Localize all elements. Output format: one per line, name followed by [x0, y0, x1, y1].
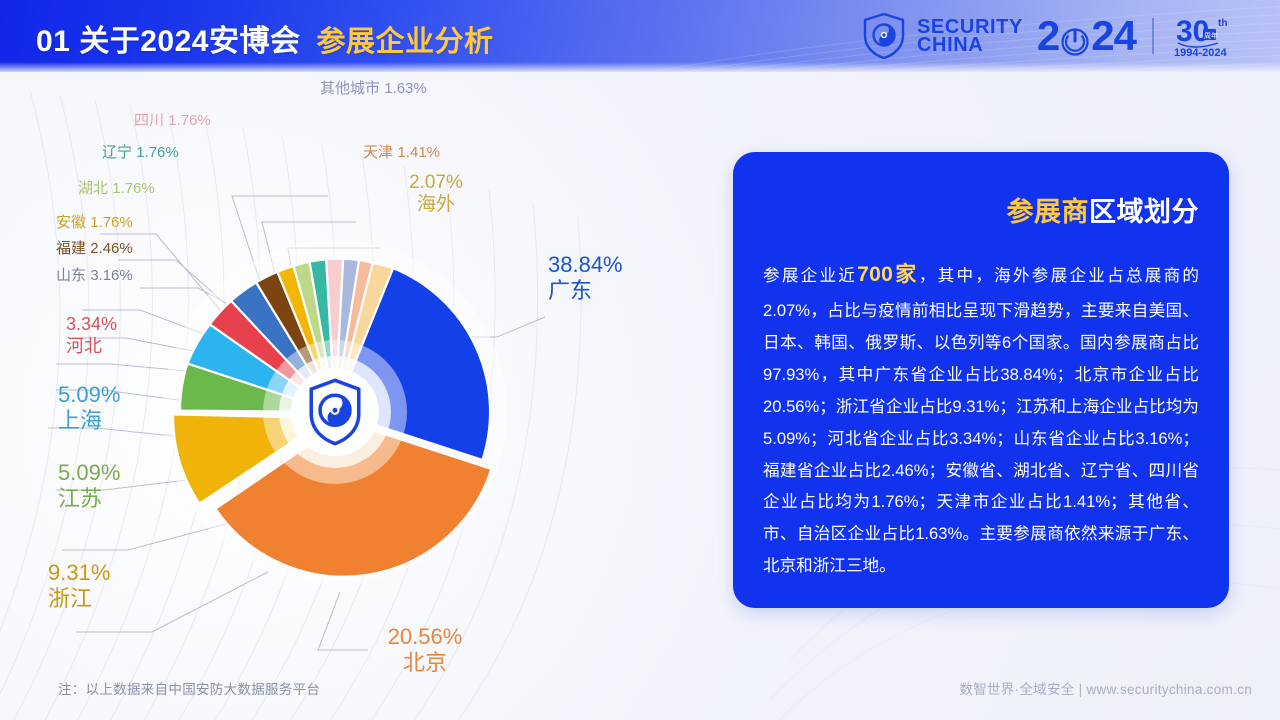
logo-divider	[1152, 18, 1154, 54]
page-title: 01 关于2024安博会 参展企业分析	[36, 16, 493, 60]
pie-label-tianjin: 天津 1.41%	[363, 144, 440, 163]
footer-brand-url: 数智世界·全域安全 | www.securitychina.com.cn	[959, 678, 1252, 698]
pie-label-anhui-pct: 1.76%	[90, 214, 133, 231]
pie-label-guangdong-pct: 38.84%	[548, 252, 623, 277]
anniversary-range: 1994-2024	[1174, 47, 1227, 59]
pie-label-overseas-name: 海外	[388, 194, 484, 216]
pie-label-fujian-name: 福建	[56, 240, 86, 257]
footer-data-source-note: 注：以上数据来自中国安防大数据服务平台	[58, 678, 320, 698]
pie-label-beijing-pct: 20.56%	[388, 624, 463, 649]
pie-label-guangdong-name: 广东	[548, 278, 623, 304]
pie-label-other-cities-name: 其他城市	[320, 80, 380, 97]
pie-label-shanghai-name: 上海	[58, 408, 120, 434]
panel-body-highlight: 700家	[857, 263, 919, 286]
panel-body-pre: 参展企业近	[763, 266, 857, 285]
pie-label-sichuan-pct: 1.76%	[168, 112, 211, 129]
pie-label-hubei: 湖北 1.76%	[78, 180, 155, 197]
logo-year-suffix: 24	[1091, 15, 1136, 57]
pie-label-beijing-name: 北京	[370, 650, 480, 676]
anniversary-badge-30th: 30 th 周年 1994-2024	[1170, 12, 1254, 60]
logo-line-china: CHINA	[917, 36, 1023, 54]
anniversary-superscript: th	[1218, 18, 1227, 29]
logo-year-prefix: 2	[1037, 15, 1059, 57]
security-china-logo: SECURITY CHINA 2 24 30 th	[863, 8, 1254, 64]
pie-label-guangdong: 38.84% 广东	[548, 252, 623, 303]
pie-label-sichuan-name: 四川	[134, 112, 164, 129]
pie-label-zhejiang-pct: 9.31%	[48, 560, 110, 585]
header-bottom-fade	[0, 62, 1280, 72]
pie-label-hubei-name: 湖北	[78, 180, 108, 197]
pie-label-sichuan: 四川 1.76%	[134, 112, 211, 129]
power-button-icon	[1060, 21, 1090, 51]
pie-label-jiangsu-pct: 5.09%	[58, 460, 120, 485]
pie-label-other-cities: 其他城市 1.63%	[320, 80, 427, 97]
pie-label-zhejiang: 9.31% 浙江	[48, 560, 110, 611]
panel-title: 参展商区域划分	[763, 190, 1199, 229]
pie-label-fujian: 福建 2.46%	[56, 240, 133, 257]
pie-label-hubei-pct: 1.76%	[112, 180, 155, 197]
pie-label-shanghai: 5.09% 上海	[58, 382, 120, 433]
page-header: 01 关于2024安博会 参展企业分析 SECURITY CHINA 2	[0, 0, 1280, 72]
pie-label-shandong-name: 山东	[56, 267, 86, 284]
pie-label-jiangsu: 5.09% 江苏	[58, 460, 120, 511]
panel-body-rest: ，其中，海外参展企业占总展商的2.07%，占比与疫情前相比呈现下滑趋势，主要来自…	[763, 266, 1199, 575]
pie-label-beijing: 20.56% 北京	[370, 624, 480, 675]
pie-label-anhui-name: 安徽	[56, 214, 86, 231]
pie-label-hebei-pct: 3.34%	[66, 314, 117, 334]
anniversary-inner-label: 周年	[1204, 31, 1218, 40]
panel-title-white: 区域划分	[1089, 197, 1199, 227]
pie-label-tianjin-pct: 1.41%	[397, 144, 440, 161]
pie-label-jiangsu-name: 江苏	[58, 486, 120, 512]
panel-title-gold: 参展商	[1007, 197, 1090, 227]
pie-label-shanghai-pct: 5.09%	[58, 382, 120, 407]
page-title-accent: 参展企业分析	[316, 18, 493, 60]
pie-label-overseas: 2.07% 海外	[388, 172, 484, 216]
panel-body-text: 参展企业近700家，其中，海外参展企业占总展商的2.07%，占比与疫情前相比呈现…	[763, 255, 1199, 582]
logo-wordmark: SECURITY CHINA	[917, 18, 1023, 55]
pie-label-shandong: 山东 3.16%	[56, 267, 133, 284]
pie-label-zhejiang-name: 浙江	[48, 586, 110, 612]
logo-year-2024: 2 24	[1037, 15, 1136, 57]
pie-label-tianjin-name: 天津	[363, 144, 393, 161]
pie-label-liaoning-pct: 1.76%	[136, 144, 179, 161]
pie-label-anhui: 安徽 1.76%	[56, 214, 133, 231]
slide-root: 01 关于2024安博会 参展企业分析 SECURITY CHINA 2	[0, 0, 1280, 720]
pie-label-fujian-pct: 2.46%	[90, 240, 133, 257]
exhibitor-region-info-panel: 参展商区域划分 参展企业近700家，其中，海外参展企业占总展商的2.07%，占比…	[733, 152, 1229, 608]
pie-label-hebei-name: 河北	[66, 336, 117, 357]
pie-label-shandong-pct: 3.16%	[90, 267, 133, 284]
pie-label-liaoning: 辽宁 1.76%	[102, 144, 179, 161]
pie-label-overseas-pct: 2.07%	[409, 172, 463, 193]
security-shield-icon	[863, 13, 905, 59]
pie-label-hebei: 3.34% 河北	[66, 314, 117, 356]
pie-label-other-cities-pct: 1.63%	[384, 80, 427, 97]
pie-label-liaoning-name: 辽宁	[102, 144, 132, 161]
exhibitor-region-pie-chart: 38.84% 广东 20.56% 北京 9.31% 浙江 5.09% 江苏 5.…	[0, 72, 720, 672]
page-title-main: 01 关于2024安博会	[36, 16, 300, 60]
